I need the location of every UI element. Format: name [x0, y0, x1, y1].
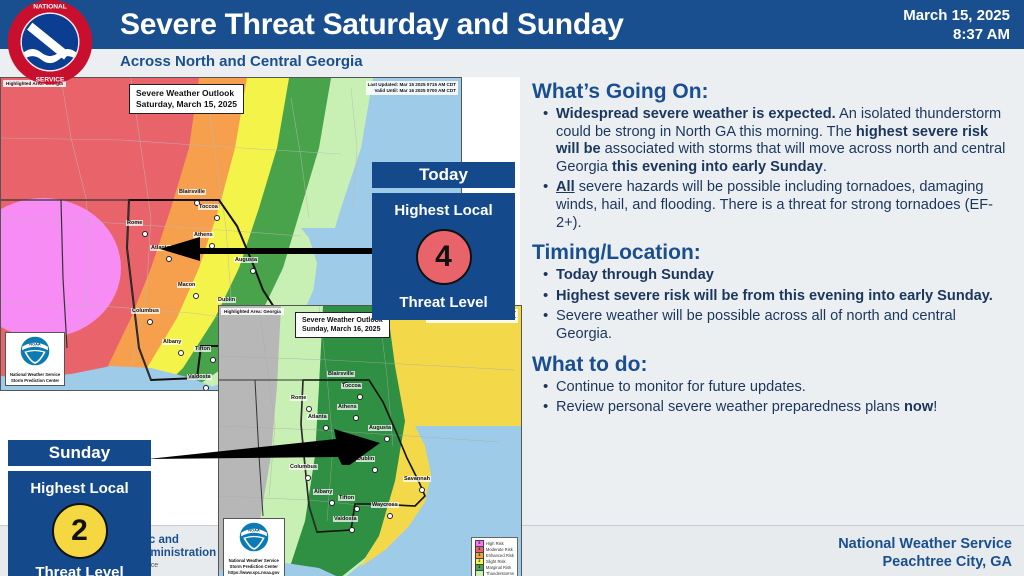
- svg-text:NATIONAL: NATIONAL: [33, 4, 67, 11]
- city-dot-icon: [387, 513, 393, 519]
- city-label: Columbus: [131, 308, 160, 314]
- city-dot-icon: [372, 467, 378, 473]
- city-label: Albany: [162, 339, 182, 345]
- outlook-legend: 5High Risk4Moderate Risk3Enhanced Risk2S…: [471, 537, 518, 576]
- city-label: Blairsville: [327, 371, 355, 377]
- legend-row: Thunderstorms: [475, 570, 514, 576]
- city-dot-icon: [142, 231, 148, 237]
- bullet-text-run: Review personal severe weather preparedn…: [556, 399, 904, 415]
- bullet-text-run: Severe weather will be possible across a…: [556, 308, 956, 342]
- noaa-logo-icon: NOAA: [16, 336, 54, 366]
- city-label: Toccoa: [341, 383, 362, 389]
- city-label: Tifton: [338, 495, 355, 501]
- maps-region: Highlighted Area: Georgia Severe Weather…: [0, 77, 520, 525]
- sunday-spc-credit: NOAA National Weather Service Storm Pred…: [223, 518, 285, 576]
- city-dot-icon: [250, 268, 256, 274]
- city-label: Rome: [126, 220, 143, 226]
- noaa-logo-icon: NOAA: [235, 522, 273, 552]
- bullet-item: Severe weather will be possible across a…: [556, 308, 1012, 343]
- today-threat-label-bottom: Threat Level: [399, 294, 487, 311]
- legend-label: Slight Risk: [486, 559, 506, 564]
- city-dot-icon: [306, 406, 312, 412]
- city-label: Athens: [337, 404, 358, 410]
- bullet-text-run: Widespread severe weather is expected.: [556, 106, 836, 122]
- city-dot-icon: [353, 415, 359, 421]
- sunday-threat-label-bottom: Threat Level: [35, 564, 123, 576]
- city-label: Rome: [290, 395, 307, 401]
- today-threat-box: Highest Local 4 Threat Level: [372, 193, 515, 320]
- bullet-text-run: this evening into early Sunday: [612, 159, 823, 175]
- bullet-item: Widespread severe weather is expected. A…: [556, 106, 1012, 176]
- bullet-text-run: Today through Sunday: [556, 267, 714, 283]
- saturday-map-title: Severe Weather Outlook Saturday, March 1…: [129, 84, 244, 114]
- information-panel: What’s Going On:Widespread severe weathe…: [524, 77, 1024, 525]
- today-threat-tab: Today: [372, 162, 515, 188]
- sunday-highlighted-area: Highlighted Area: Georgia: [221, 308, 284, 315]
- page-subtitle: Across North and Central Georgia: [120, 53, 363, 70]
- sunday-threat-box: Highest Local 2 Threat Level: [8, 471, 151, 576]
- sunday-threat-label-top: Highest Local: [30, 480, 128, 497]
- legend-swatch: [475, 570, 484, 576]
- bullet-text-run: severe hazards will be possible includin…: [556, 179, 993, 230]
- svg-text:NOAA: NOAA: [248, 527, 260, 532]
- city-label: Toccoa: [198, 204, 219, 210]
- bullet-text-run: !: [933, 399, 937, 415]
- today-threat-level-badge: 4: [416, 229, 472, 285]
- sunday-spc-url[interactable]: https://www.spc.noaa.gov: [228, 570, 280, 575]
- city-dot-icon: [178, 350, 184, 356]
- legend-label: Enhanced Risk: [486, 553, 514, 558]
- bullet-text-run: .: [823, 159, 827, 175]
- city-dot-icon: [193, 293, 199, 299]
- city-label: Valdosta: [333, 516, 358, 522]
- city-label: Macon: [177, 282, 196, 288]
- sunday-title-line1: Severe Weather Outlook: [302, 316, 383, 325]
- city-dot-icon: [349, 527, 355, 533]
- sunday-title-line2: Sunday, March 16, 2025: [302, 325, 383, 334]
- page-title: Severe Threat Saturday and Sunday: [120, 4, 820, 46]
- legend-label: Moderate Risk: [486, 547, 513, 552]
- office-line1: National Weather Service: [838, 535, 1012, 553]
- section-heading: What to do:: [532, 352, 1012, 377]
- bullet-item: Highest severe risk will be from this ev…: [556, 288, 1012, 306]
- section-heading: What’s Going On:: [532, 79, 1012, 104]
- sunday-threat-level-badge: 2: [52, 503, 108, 559]
- saturday-title-line1: Severe Weather Outlook: [136, 88, 237, 99]
- bullet-text-run: Highest severe risk will be from this ev…: [556, 288, 993, 304]
- bullet-text-run: Continue to monitor for future updates.: [556, 379, 806, 395]
- sunday-spc-line2: Storm Prediction Center: [228, 564, 280, 569]
- section-bullet-list: Today through SundayHighest severe risk …: [536, 267, 1012, 343]
- saturday-timestamps: Last Updated: Mar 15 2025 0715 AM CDT Va…: [366, 81, 458, 95]
- section-heading: Timing/Location:: [532, 240, 1012, 265]
- city-dot-icon: [210, 357, 216, 363]
- office-line2: Peachtree City, GA: [838, 553, 1012, 571]
- section-bullet-list: Continue to monitor for future updates.R…: [536, 379, 1012, 417]
- nws-logo-icon: NATIONAL SERVICE: [6, 0, 94, 86]
- bullet-item: All severe hazards will be possible incl…: [556, 179, 1012, 232]
- city-label: Tifton: [194, 346, 211, 352]
- city-dot-icon: [419, 487, 425, 493]
- svg-text:SERVICE: SERVICE: [36, 77, 65, 84]
- sunday-pointer-arrow: [148, 429, 388, 465]
- sunday-threat-tab: Sunday: [8, 440, 151, 466]
- city-dot-icon: [203, 385, 209, 391]
- legend-label: Thunderstorms: [486, 571, 514, 576]
- bullet-text-run: now: [904, 399, 933, 415]
- city-dot-icon: [305, 475, 311, 481]
- saturday-spc-line2: Storm Prediction Center: [10, 378, 60, 383]
- severe-weather-graphic: NATIONAL SERVICE Severe Threat Saturday …: [0, 0, 1024, 576]
- city-label: Dublin: [217, 297, 236, 303]
- city-dot-icon: [354, 506, 360, 512]
- bullet-item: Continue to monitor for future updates.: [556, 379, 1012, 397]
- bullet-item: Review personal severe weather preparedn…: [556, 399, 1012, 417]
- svg-text:NOAA: NOAA: [29, 341, 41, 346]
- saturday-spc-credit: NOAA National Weather Service Storm Pred…: [5, 332, 65, 386]
- city-label: Atlanta: [307, 414, 328, 420]
- saturday-spc-line1: National Weather Service: [10, 372, 60, 377]
- city-dot-icon: [357, 394, 363, 400]
- city-label: Albany: [313, 489, 333, 495]
- saturday-title-line2: Saturday, March 15, 2025: [136, 99, 237, 110]
- legend-label: Marginal Risk: [486, 565, 511, 570]
- header-time: 8:37 AM: [903, 25, 1010, 44]
- saturday-valid-until: Valid Until: Mar 16 2025 0700 AM CDT: [368, 88, 456, 94]
- city-label: Valdosta: [187, 374, 212, 380]
- header-datetime: March 15, 2025 8:37 AM: [903, 6, 1010, 44]
- section-bullet-list: Widespread severe weather is expected. A…: [536, 106, 1012, 232]
- city-dot-icon: [214, 215, 220, 221]
- bullet-item: Today through Sunday: [556, 267, 1012, 285]
- today-threat-label-top: Highest Local: [394, 202, 492, 219]
- header-date: March 15, 2025: [903, 6, 1010, 25]
- city-dot-icon: [147, 319, 153, 325]
- city-label: Savannah: [403, 476, 431, 482]
- legend-label: High Risk: [486, 541, 504, 546]
- office-credit: National Weather Service Peachtree City,…: [838, 535, 1012, 571]
- city-label: Waycross: [371, 502, 399, 508]
- city-label: Blairsville: [178, 189, 206, 195]
- city-dot-icon: [329, 500, 335, 506]
- sunday-spc-line1: National Weather Service: [228, 558, 280, 563]
- bullet-text-run: All: [556, 179, 575, 195]
